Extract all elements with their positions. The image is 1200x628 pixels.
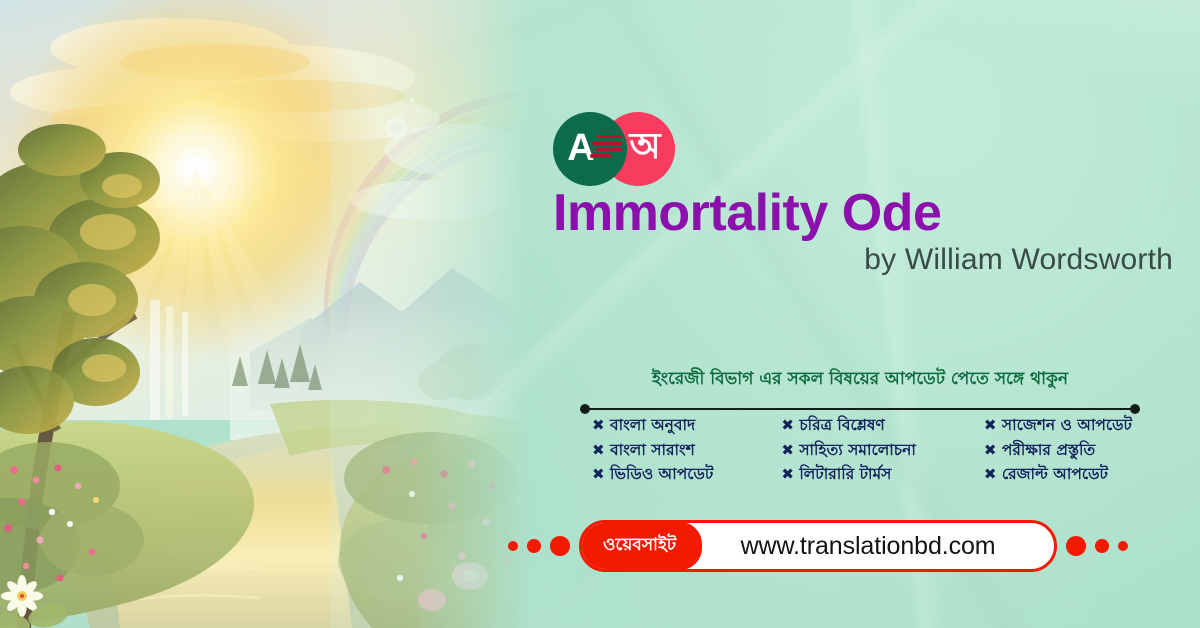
bullet-icon: ✖ bbox=[984, 443, 995, 458]
website-bar: ওয়েবসাইট www.translationbd.com bbox=[508, 520, 1128, 572]
bullet-icon: ✖ bbox=[592, 418, 603, 433]
feature-list: ✖ বাংলা অনুবাদ ✖ বাংলা সারাংশ ✖ ভিডিও আপ… bbox=[592, 416, 1132, 485]
divider-dot-right bbox=[1130, 404, 1140, 414]
promo-banner: A অ Immortality Ode by William Wordswort… bbox=[0, 0, 1200, 628]
bullet-icon: ✖ bbox=[984, 467, 995, 482]
bullet-icon: ✖ bbox=[781, 418, 792, 433]
website-pill-label: ওয়েবসাইট bbox=[581, 522, 702, 570]
list-item-label: রেজাল্ট আপডেট bbox=[1002, 465, 1108, 485]
bullet-icon: ✖ bbox=[592, 443, 603, 458]
logo-right-letter: অ bbox=[629, 129, 660, 165]
bullet-icon: ✖ bbox=[984, 418, 995, 433]
list-item-label: চরিত্র বিশ্লেষণ bbox=[799, 416, 884, 436]
brand-logo[interactable]: A অ bbox=[553, 112, 675, 186]
translation-lines-icon bbox=[590, 135, 628, 163]
decorative-dots-left bbox=[508, 536, 570, 556]
list-item: ✖ বাংলা অনুবাদ bbox=[592, 416, 713, 436]
list-item: ✖ বাংলা সারাংশ bbox=[592, 441, 713, 461]
bullet-icon: ✖ bbox=[781, 467, 792, 482]
list-item-label: লিটারারি টার্মস bbox=[799, 465, 891, 485]
list-item-label: বাংলা সারাংশ bbox=[610, 441, 695, 461]
bullet-icon: ✖ bbox=[592, 467, 603, 482]
list-item-label: ভিডিও আপডেট bbox=[610, 465, 713, 485]
list-item-label: সাহিত্য সমালোচনা bbox=[799, 441, 916, 461]
list-item: ✖ রেজাল্ট আপডেট bbox=[984, 465, 1132, 485]
divider bbox=[580, 404, 1140, 414]
feature-column-1: ✖ বাংলা অনুবাদ ✖ বাংলা সারাংশ ✖ ভিডিও আপ… bbox=[592, 416, 713, 485]
list-item: ✖ লিটারারি টার্মস bbox=[781, 465, 916, 485]
list-item-label: সাজেশন ও আপডেট bbox=[1002, 416, 1132, 436]
promo-headline: ইংরেজী বিভাগ এর সকল বিষয়ের আপডেট পেতে স… bbox=[560, 366, 1160, 394]
divider-line bbox=[586, 408, 1134, 410]
page-subtitle: by William Wordsworth bbox=[553, 243, 1187, 277]
decorative-dots-right bbox=[1066, 536, 1128, 556]
landscape-illustration bbox=[0, 0, 530, 628]
list-item: ✖ পরীক্ষার প্রস্তুতি bbox=[984, 441, 1132, 461]
bullet-icon: ✖ bbox=[781, 443, 792, 458]
feature-column-3: ✖ সাজেশন ও আপডেট ✖ পরীক্ষার প্রস্তুতি ✖ … bbox=[984, 416, 1132, 485]
list-item-label: পরীক্ষার প্রস্তুতি bbox=[1002, 441, 1095, 461]
list-item: ✖ সাহিত্য সমালোচনা bbox=[781, 441, 916, 461]
website-url[interactable]: www.translationbd.com bbox=[688, 523, 1054, 569]
page-title: Immortality Ode bbox=[553, 186, 1173, 241]
feature-column-2: ✖ চরিত্র বিশ্লেষণ ✖ সাহিত্য সমালোচনা ✖ ল… bbox=[781, 416, 916, 485]
list-item-label: বাংলা অনুবাদ bbox=[610, 416, 695, 436]
list-item: ✖ সাজেশন ও আপডেট bbox=[984, 416, 1132, 436]
list-item: ✖ চরিত্র বিশ্লেষণ bbox=[781, 416, 916, 436]
list-item: ✖ ভিডিও আপডেট bbox=[592, 465, 713, 485]
website-pill[interactable]: ওয়েবসাইট www.translationbd.com bbox=[579, 520, 1057, 572]
